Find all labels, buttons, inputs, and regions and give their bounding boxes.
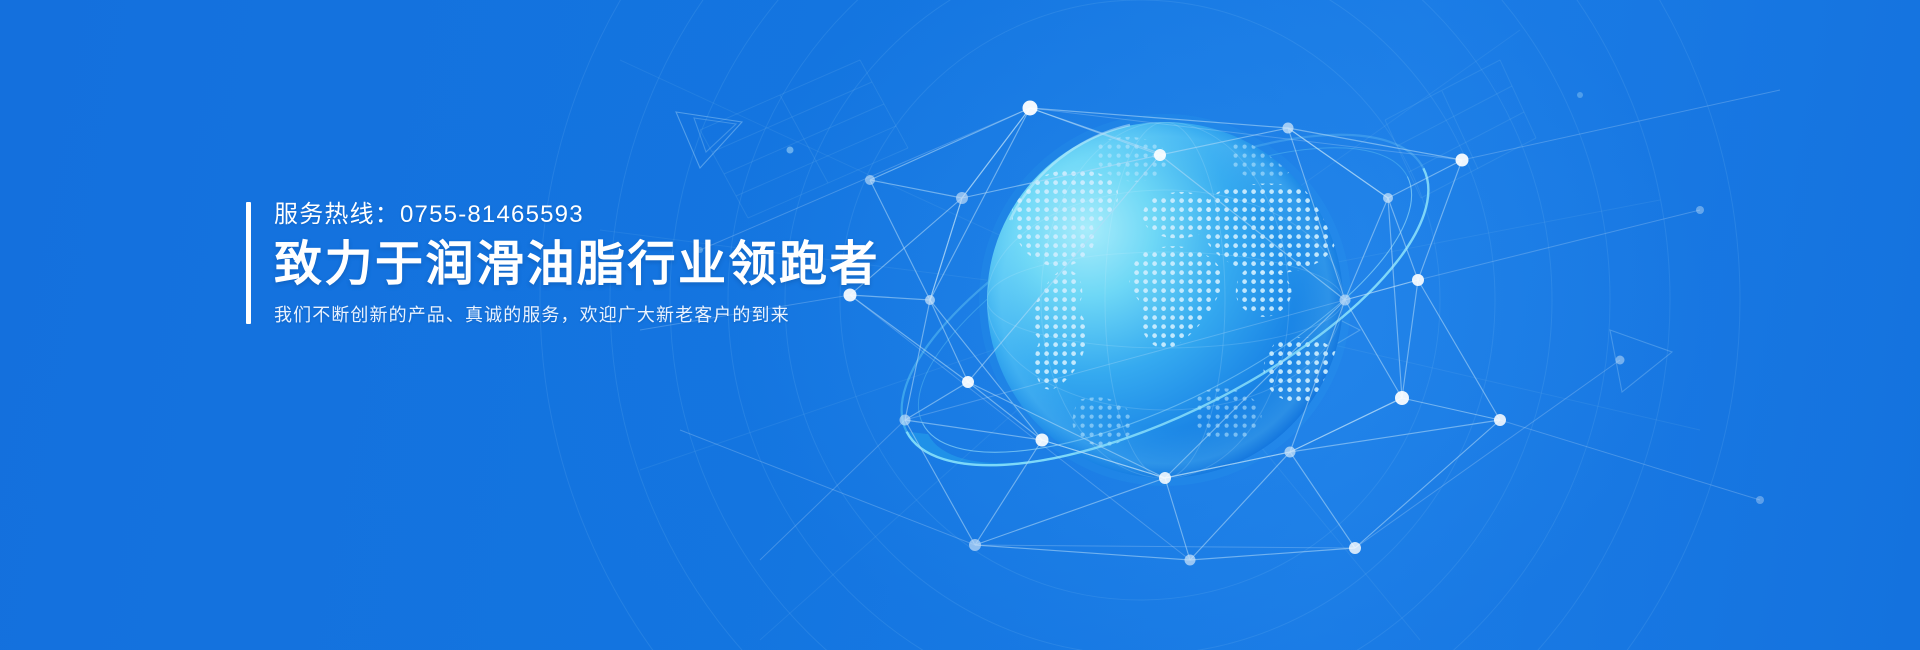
globe	[979, 114, 1351, 486]
hero-copy: 服务热线：0755-81465593 致力于润滑油脂行业领跑者 我们不断创新的产…	[246, 198, 880, 330]
globe-latitudes	[987, 122, 1343, 478]
orbital-ring-front	[907, 168, 1475, 531]
radial-spokes	[600, 30, 1700, 640]
page-title: 致力于润滑油脂行业领跑者	[274, 234, 880, 296]
accent-bar	[246, 202, 251, 324]
grid-panel-left	[700, 60, 908, 218]
service-hotline: 服务热线：0755-81465593	[274, 198, 880, 232]
globe-continents	[1012, 137, 1343, 446]
network-lines	[850, 108, 1500, 560]
page-subtitle: 我们不断创新的产品、真诚的服务，欢迎广大新老客户的到来	[274, 300, 880, 330]
orbital-ring-back	[856, 69, 1474, 532]
orbital-ring-sweep	[907, 300, 1216, 531]
hero-banner: 服务热线：0755-81465593 致力于润滑油脂行业领跑者 我们不断创新的产…	[0, 0, 1920, 650]
grid-panel-right	[1385, 60, 1536, 198]
